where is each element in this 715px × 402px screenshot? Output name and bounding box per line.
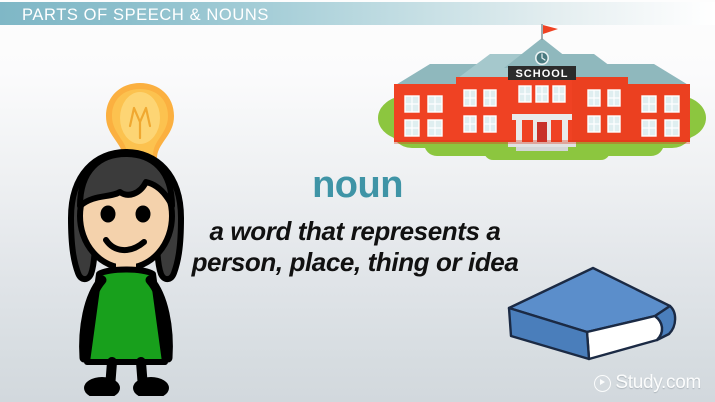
definition-text: a word that represents a person, place, … <box>150 216 560 278</box>
study-watermark: Study.com <box>594 372 701 394</box>
flag-icon <box>543 25 558 34</box>
book-illustration <box>505 262 680 372</box>
page-title: PARTS OF SPEECH & NOUNS <box>22 5 269 25</box>
base-trim <box>394 140 690 144</box>
term-word: noun <box>0 163 715 207</box>
school-sign-text: SCHOOL <box>515 68 568 80</box>
school-illustration: SCHOOL <box>372 22 712 172</box>
eye-right <box>136 206 151 223</box>
eye-left <box>101 206 116 223</box>
flagpole <box>541 24 543 40</box>
watermark-brand: Study.com <box>615 372 701 394</box>
slide-canvas: PARTS OF SPEECH & NOUNS <box>0 0 715 402</box>
definition-line-1: a word that represents a <box>150 216 560 247</box>
wing-left <box>394 84 456 142</box>
play-circle-icon <box>594 375 611 392</box>
definition-line-2: person, place, thing or idea <box>150 247 560 278</box>
